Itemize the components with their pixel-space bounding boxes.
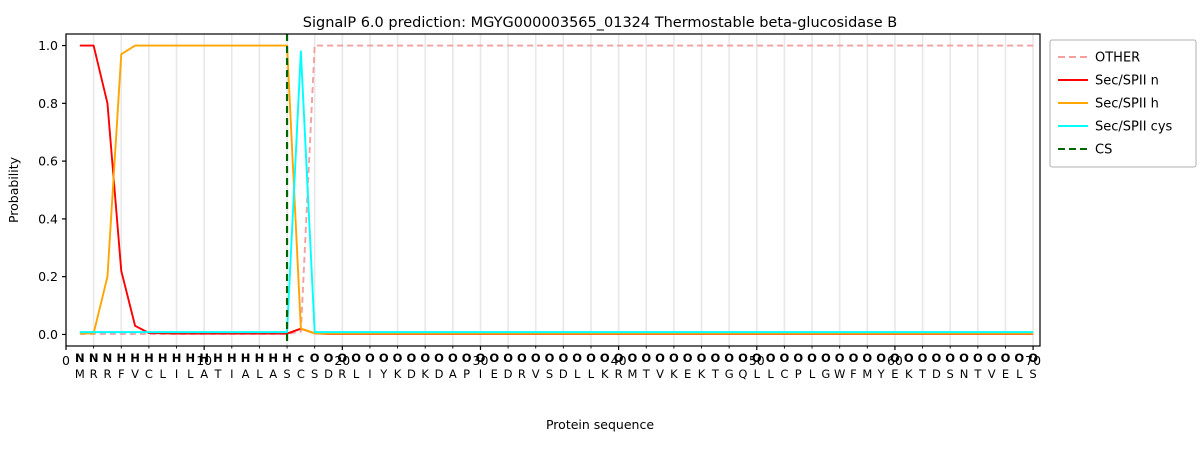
residue-letter: P (463, 367, 470, 381)
residue-letter: I (175, 367, 178, 381)
residue-letter: T (642, 367, 651, 381)
residue-letter: D (324, 367, 333, 381)
residue-letter: K (698, 367, 706, 381)
residue-annotation: O (1014, 351, 1024, 365)
residue-annotation: O (600, 351, 610, 365)
residue-annotation: O (959, 351, 969, 365)
y-tick-label: 0.8 (38, 96, 58, 111)
residue-annotation: H (172, 351, 182, 365)
residue-annotation: N (103, 351, 113, 365)
residue-annotation: O (586, 351, 596, 365)
residue-annotation: N (89, 351, 99, 365)
residue-letter: L (809, 367, 816, 381)
residue-annotation: O (572, 351, 582, 365)
residue-annotation: O (420, 351, 430, 365)
residue-annotation: O (517, 351, 527, 365)
residue-letter: E (891, 367, 898, 381)
residue-annotation: O (945, 351, 955, 365)
residue-annotation: O (780, 351, 790, 365)
residue-letter: D (559, 367, 568, 381)
legend-label-sec-spii-cys: Sec/SPII cys (1095, 120, 1173, 135)
residue-letter: L (353, 367, 360, 381)
residue-annotation: O (531, 351, 541, 365)
residue-annotation: O (641, 351, 651, 365)
x-tick-label: 0 (62, 353, 70, 368)
residue-letter: I (368, 367, 371, 381)
residue-letter: Q (738, 367, 747, 381)
residue-letter: F (118, 367, 125, 381)
residue-letter: L (767, 367, 774, 381)
residue-letter: E (491, 367, 498, 381)
residue-annotation: O (489, 351, 499, 365)
residue-letter: S (1029, 367, 1036, 381)
chart-canvas: SignalP 6.0 prediction: MGYG000003565_01… (0, 0, 1200, 450)
residue-letter: A (449, 367, 457, 381)
residue-annotation: O (931, 351, 941, 365)
residue-annotation: O (918, 351, 928, 365)
residue-letter: S (311, 367, 318, 381)
residue-letter: L (574, 367, 581, 381)
residue-letter: G (821, 367, 830, 381)
residue-annotation: O (807, 351, 817, 365)
residue-letter: L (256, 367, 263, 381)
residue-annotation: O (545, 351, 555, 365)
residue-letter: L (754, 367, 761, 381)
residue-annotation: O (987, 351, 997, 365)
residue-letter: K (601, 367, 609, 381)
residue-annotation: O (738, 351, 748, 365)
residue-letter: N (960, 367, 969, 381)
residue-annotation: O (849, 351, 859, 365)
residue-letter: M (627, 367, 637, 381)
residue-annotation: O (1028, 351, 1038, 365)
residue-letter: D (932, 367, 941, 381)
residue-letter: L (159, 367, 166, 381)
legend-label-sec-spii-h: Sec/SPII h (1095, 97, 1159, 112)
residue-letter: R (90, 367, 98, 381)
residue-annotation: H (199, 351, 209, 365)
residue-annotation: O (448, 351, 458, 365)
y-tick-label: 1.0 (38, 38, 58, 53)
x-axis-label: Protein sequence (546, 417, 654, 432)
residue-letter: T (213, 367, 222, 381)
residue-annotation: O (793, 351, 803, 365)
residue-letter: V (656, 367, 664, 381)
residue-annotation: O (821, 351, 831, 365)
legend: OTHERSec/SPII nSec/SPII hSec/SPII cysCS (1050, 40, 1196, 167)
residue-letter: D (435, 367, 444, 381)
residue-letter: T (918, 367, 927, 381)
residue-annotation: O (890, 351, 900, 365)
residue-letter: L (187, 367, 194, 381)
residue-annotation: O (862, 351, 872, 365)
residue-annotation: O (876, 351, 886, 365)
residue-letter: C (297, 367, 305, 381)
residue-letter: A (242, 367, 250, 381)
residue-annotation: O (1001, 351, 1011, 365)
residue-letter: Y (877, 367, 886, 381)
residue-annotation: H (186, 351, 196, 365)
signalp-prediction-figure: SignalP 6.0 prediction: MGYG000003565_01… (0, 0, 1200, 450)
residue-letter: V (131, 367, 139, 381)
residue-annotation: H (227, 351, 237, 365)
residue-annotation: H (213, 351, 223, 365)
residue-annotation: O (393, 351, 403, 365)
residue-annotation: O (628, 351, 638, 365)
residue-annotation: H (130, 351, 140, 365)
residue-annotation: O (503, 351, 513, 365)
residue-letter: I (230, 367, 233, 381)
residue-letter: C (145, 367, 153, 381)
residue-annotation: O (904, 351, 914, 365)
residue-letter: A (269, 367, 277, 381)
residue-annotation: O (669, 351, 679, 365)
residue-annotation: c (297, 351, 304, 365)
residue-annotation: O (379, 351, 389, 365)
residue-annotation: O (724, 351, 734, 365)
residue-letter: S (283, 367, 290, 381)
residue-letter: K (905, 367, 913, 381)
residue-letter: E (684, 367, 691, 381)
residue-annotation: H (268, 351, 278, 365)
y-tick-label: 0.6 (38, 154, 58, 169)
residue-annotation: O (365, 351, 375, 365)
residue-annotation: O (683, 351, 693, 365)
residue-annotation: O (310, 351, 320, 365)
residue-letter: S (546, 367, 553, 381)
residue-annotation: O (406, 351, 416, 365)
legend-label-sec-spii-n: Sec/SPII n (1095, 74, 1159, 89)
y-tick-label: 0.2 (38, 269, 58, 284)
residue-letter: W (834, 367, 845, 381)
y-tick-label: 0.4 (38, 211, 58, 226)
y-tick-label: 0.0 (38, 327, 58, 342)
residue-annotation: O (614, 351, 624, 365)
figure-background (0, 0, 1200, 450)
residue-letter: A (200, 367, 208, 381)
residue-letter: T (973, 367, 982, 381)
residue-annotation: O (655, 351, 665, 365)
residue-annotation: O (558, 351, 568, 365)
residue-letter: V (988, 367, 996, 381)
residue-annotation: H (158, 351, 168, 365)
residue-letter: R (103, 367, 111, 381)
residue-annotation: H (241, 351, 251, 365)
residue-annotation: O (476, 351, 486, 365)
residue-annotation: H (282, 351, 292, 365)
residue-annotation: O (752, 351, 762, 365)
residue-letter: S (947, 367, 954, 381)
residue-letter: Y (379, 367, 388, 381)
residue-letter: K (394, 367, 402, 381)
residue-letter: R (338, 367, 346, 381)
residue-letter: P (795, 367, 802, 381)
residue-annotation: O (434, 351, 444, 365)
residue-annotation: H (255, 351, 265, 365)
residue-letter: I (479, 367, 482, 381)
legend-label-cs: CS (1095, 143, 1112, 158)
residue-letter: L (588, 367, 595, 381)
residue-letter: F (850, 367, 857, 381)
y-axis-label: Probability (6, 156, 21, 223)
residue-letter: R (518, 367, 526, 381)
residue-annotation: O (324, 351, 334, 365)
residue-annotation: O (835, 351, 845, 365)
residue-annotation: O (351, 351, 361, 365)
residue-letter: D (504, 367, 513, 381)
residue-letter: G (725, 367, 734, 381)
residue-annotation: O (337, 351, 347, 365)
residue-annotation: O (973, 351, 983, 365)
residue-annotation: O (710, 351, 720, 365)
residue-letter: T (711, 367, 720, 381)
residue-annotation: O (697, 351, 707, 365)
page-title: SignalP 6.0 prediction: MGYG000003565_01… (303, 15, 897, 31)
residue-letter: K (670, 367, 678, 381)
residue-letter: K (421, 367, 429, 381)
residue-letter: C (780, 367, 788, 381)
residue-annotation: H (116, 351, 126, 365)
residue-letter: D (407, 367, 416, 381)
residue-letter: R (615, 367, 623, 381)
legend-label-other: OTHER (1095, 51, 1140, 66)
residue-annotation: O (462, 351, 472, 365)
residue-letter: M (862, 367, 872, 381)
residue-annotation: N (75, 351, 85, 365)
residue-letter: E (1002, 367, 1009, 381)
residue-letter: L (1016, 367, 1023, 381)
residue-annotation: O (766, 351, 776, 365)
residue-letter: M (75, 367, 85, 381)
residue-annotation: H (144, 351, 154, 365)
residue-letter: V (532, 367, 540, 381)
